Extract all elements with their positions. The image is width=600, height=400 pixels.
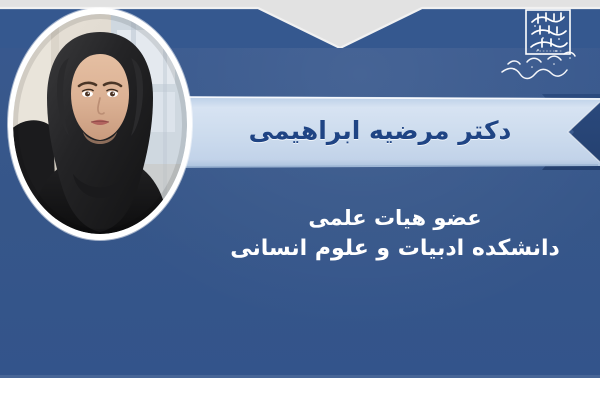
faculty-line: دانشکده ادبیات و علوم انسانی (200, 233, 590, 265)
shahid-beheshti-university-logo-icon (494, 6, 586, 82)
subtitle-block: عضو هیات علمی دانشکده ادبیات و علوم انسا… (200, 203, 590, 265)
faculty-profile-card: دکتر مرضیه ابراهیمی (0, 0, 600, 400)
person-name: دکتر مرضیه ابراهیمی (200, 104, 560, 158)
panel-bottom-line (0, 375, 600, 378)
role-line: عضو هیات علمی (200, 203, 590, 233)
portrait-photo (8, 8, 192, 240)
portrait-photo-inner (13, 14, 187, 234)
